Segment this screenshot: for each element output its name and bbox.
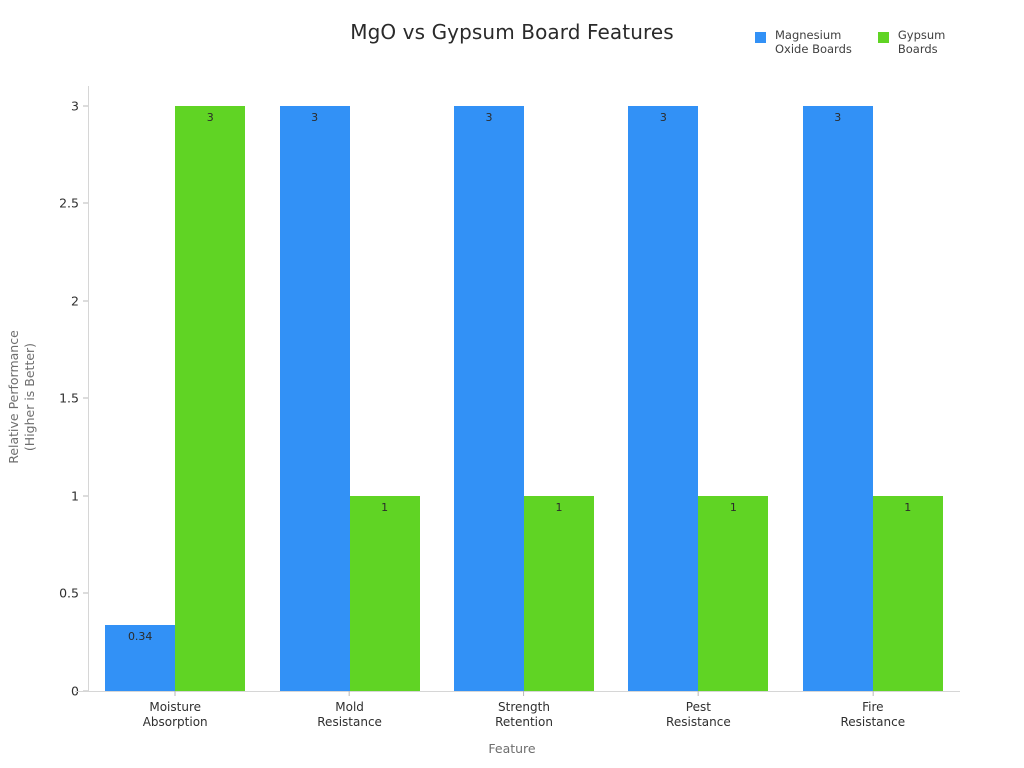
y-axis-tick: 2 [71,293,88,308]
x-axis-tick-label: Mold Resistance [317,700,382,730]
bar-value-label: 1 [698,501,768,514]
bar[interactable]: 3 [803,106,873,691]
bar-value-label: 1 [873,501,943,514]
bar[interactable]: 0.34 [105,625,175,691]
plot-area: 0.34331313131 [88,86,960,691]
legend-swatch-icon [878,32,889,43]
y-axis-tick: 3 [71,98,88,113]
y-axis-tick-label: 1.5 [59,391,83,406]
y-axis-tick: 2.5 [59,196,88,211]
y-axis-tick: 1 [71,488,88,503]
bar[interactable]: 3 [628,106,698,691]
legend-item-label: Gypsum Boards [898,28,946,56]
y-axis-tick-label: 0.5 [59,586,83,601]
x-axis-tick: Moisture Absorption [143,691,208,730]
x-axis-title: Feature [0,741,1024,756]
x-axis-tick-label: Moisture Absorption [143,700,208,730]
y-axis-tick-label: 1 [71,488,83,503]
x-axis-tick-label: Strength Retention [495,700,553,730]
bar[interactable]: 1 [873,496,943,691]
x-axis-tick-mark [524,691,525,696]
x-axis-tick-mark [175,691,176,696]
bar-value-label: 3 [628,111,698,124]
x-axis-tick-mark [872,691,873,696]
legend-item-label: Magnesium Oxide Boards [775,28,852,56]
bar[interactable]: 1 [350,496,420,691]
bar-value-label: 0.34 [105,630,175,643]
bar-value-label: 3 [280,111,350,124]
x-axis-tick: Pest Resistance [666,691,731,730]
x-axis-tick: Mold Resistance [317,691,382,730]
y-axis-tick-label: 2.5 [59,196,83,211]
y-axis-tick: 0.5 [59,586,88,601]
y-axis-title: Relative Performance (Higher is Better) [6,207,38,587]
legend-item[interactable]: Magnesium Oxide Boards [755,28,852,56]
bar-value-label: 1 [524,501,594,514]
x-axis-tick-label: Pest Resistance [666,700,731,730]
x-axis-tick-label: Fire Resistance [840,700,905,730]
x-axis-tick-mark [349,691,350,696]
bar[interactable]: 3 [280,106,350,691]
bar-value-label: 1 [350,501,420,514]
legend-item[interactable]: Gypsum Boards [878,28,946,56]
bar-value-label: 3 [803,111,873,124]
x-axis-tick: Strength Retention [495,691,553,730]
bar[interactable]: 1 [698,496,768,691]
legend-swatch-icon [755,32,766,43]
bar-value-label: 3 [175,111,245,124]
chart-legend: Magnesium Oxide BoardsGypsum Boards [755,28,945,56]
y-axis-tick: 1.5 [59,391,88,406]
x-axis-tick: Fire Resistance [840,691,905,730]
bar[interactable]: 3 [175,106,245,691]
y-axis-tick-label: 3 [71,98,83,113]
bar-value-label: 3 [454,111,524,124]
bar-chart: MgO vs Gypsum Board Features Magnesium O… [0,0,1024,768]
x-axis-tick-mark [698,691,699,696]
bar[interactable]: 1 [524,496,594,691]
y-axis-tick-label: 2 [71,293,83,308]
bar[interactable]: 3 [454,106,524,691]
